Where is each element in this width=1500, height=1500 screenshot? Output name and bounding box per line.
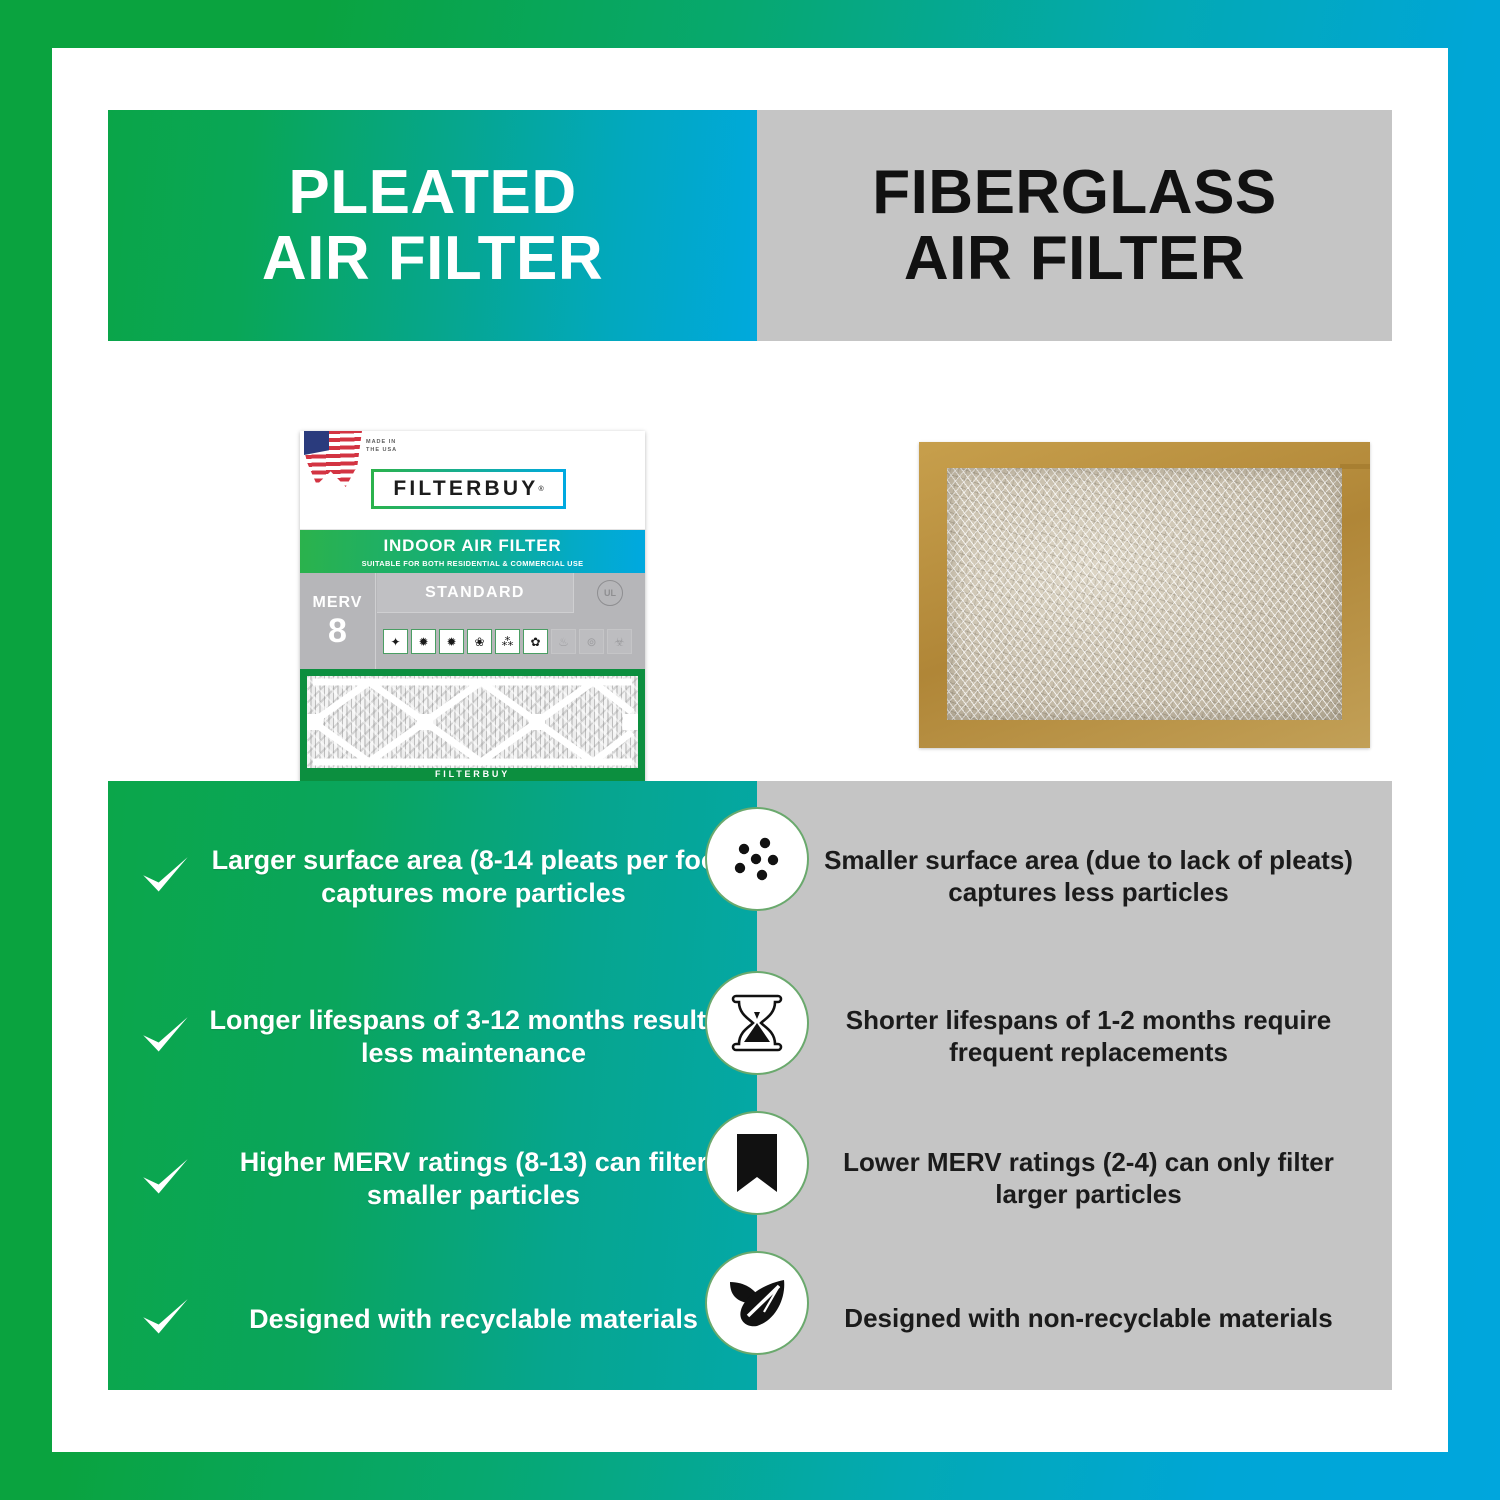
mold-icon: ✹ xyxy=(439,629,464,654)
smoke-icon: ♨ xyxy=(551,629,576,654)
pet-dander-icon: ✿ xyxy=(523,629,548,654)
header-fiberglass-title: FIBERGLASS AIR FILTER xyxy=(872,160,1277,291)
row2-fiberglass-cell: Shorter lifespans of 1-2 months require … xyxy=(757,1005,1392,1068)
pleated-filter-box-image: MADE IN THE USA FILTERBUY® INDOOR AIR FI… xyxy=(300,431,645,786)
pleated-media-face: FILTERBUY xyxy=(300,669,645,786)
pleat-texture xyxy=(307,676,638,768)
row1-pleated-cell: Larger surface area (8-14 pleats per foo… xyxy=(108,844,757,910)
row2-pleated-text: Longer lifespans of 3-12 months result i… xyxy=(206,1004,741,1070)
table-row: Designed with recyclable materials Desig… xyxy=(108,1249,1392,1389)
row3-pleated-cell: Higher MERV ratings (8-13) can filter sm… xyxy=(108,1146,757,1212)
checkmark-icon xyxy=(136,1290,194,1348)
filterbuy-logo: FILTERBUY® xyxy=(371,469,566,509)
box-spec-section: MERV 8 STANDARD UL ✦ ✹ ✹ ❀ ⁂ ✿ ♨ xyxy=(300,573,645,669)
table-row: Larger surface area (8-14 pleats per foo… xyxy=(108,789,1392,964)
box-product-band: INDOOR AIR FILTER SUITABLE FOR BOTH RESI… xyxy=(300,530,645,573)
particles-icon xyxy=(705,807,809,911)
leaf-glyph xyxy=(724,1274,790,1332)
fiberglass-filter-image xyxy=(919,442,1370,748)
wire-support-pattern xyxy=(307,676,638,768)
filterbuy-logo-text: FILTERBUY xyxy=(393,477,538,501)
row1-fiberglass-cell: Smaller surface area (due to lack of ple… xyxy=(757,845,1392,908)
lint-icon: ⁂ xyxy=(495,629,520,654)
merv-label: MERV xyxy=(313,594,363,612)
row4-fiberglass-cell: Designed with non-recyclable materials xyxy=(757,1303,1392,1335)
made-in-usa-label: MADE IN THE USA xyxy=(366,438,397,455)
dust-pollen-icon: ✹ xyxy=(411,629,436,654)
header-pleated: PLEATED AIR FILTER xyxy=(108,110,757,341)
merv-rating-cell: MERV 8 xyxy=(300,573,376,669)
row3-fiberglass-cell: Lower MERV ratings (2-4) can only filter… xyxy=(757,1147,1392,1210)
bookmark-icon xyxy=(705,1111,809,1215)
white-canvas: PLEATED AIR FILTER FIBERGLASS AIR FILTER xyxy=(52,48,1448,1452)
infographic-page: PLEATED AIR FILTER FIBERGLASS AIR FILTER xyxy=(0,0,1500,1500)
row2-pleated-cell: Longer lifespans of 3-12 months result i… xyxy=(108,1004,757,1070)
made-in-usa-line1: MADE IN xyxy=(366,438,397,446)
cardboard-tab xyxy=(1340,464,1370,469)
box-band-subtitle: SUITABLE FOR BOTH RESIDENTIAL & COMMERCI… xyxy=(362,559,584,568)
row4-pleated-cell: Designed with recyclable materials xyxy=(108,1290,757,1348)
row1-fiberglass-text: Smaller surface area (due to lack of ple… xyxy=(817,845,1360,908)
header-band: PLEATED AIR FILTER FIBERGLASS AIR FILTER xyxy=(108,110,1392,341)
fungi-icon: ❀ xyxy=(467,629,492,654)
product-images-zone: MADE IN THE USA FILTERBUY® INDOOR AIR FI… xyxy=(108,341,1392,781)
particles-glyph xyxy=(723,825,791,893)
ul-certification: UL xyxy=(575,573,645,613)
capability-icon-strip: ✦ ✹ ✹ ❀ ⁂ ✿ ♨ ⊚ ☣ xyxy=(377,614,645,669)
row3-pleated-text: Higher MERV ratings (8-13) can filter sm… xyxy=(206,1146,741,1212)
fiberglass-media xyxy=(947,468,1342,720)
row4-fiberglass-text: Designed with non-recyclable materials xyxy=(844,1303,1332,1335)
hourglass-icon xyxy=(705,971,809,1075)
box-header-section: MADE IN THE USA FILTERBUY® xyxy=(300,431,645,530)
virus-icon: ☣ xyxy=(607,629,632,654)
row3-fiberglass-text: Lower MERV ratings (2-4) can only filter… xyxy=(817,1147,1360,1210)
checkmark-icon xyxy=(136,1008,194,1066)
header-pleated-line2: AIR FILTER xyxy=(262,226,603,292)
table-row: Higher MERV ratings (8-13) can filter sm… xyxy=(108,1109,1392,1249)
made-in-usa-line2: THE USA xyxy=(366,446,397,454)
row1-pleated-text: Larger surface area (8-14 pleats per foo… xyxy=(206,844,741,910)
leaf-icon xyxy=(705,1251,809,1355)
header-fiberglass: FIBERGLASS AIR FILTER xyxy=(757,110,1392,341)
dust-mites-icon: ✦ xyxy=(383,629,408,654)
table-row: Longer lifespans of 3-12 months result i… xyxy=(108,964,1392,1109)
checkmark-icon xyxy=(136,848,194,906)
bacteria-icon: ⊚ xyxy=(579,629,604,654)
header-pleated-title: PLEATED AIR FILTER xyxy=(262,160,603,291)
header-fiberglass-line1: FIBERGLASS xyxy=(872,160,1277,226)
bookmark-glyph xyxy=(733,1132,781,1194)
header-fiberglass-line2: AIR FILTER xyxy=(872,226,1277,292)
registered-mark: ® xyxy=(538,486,543,493)
hourglass-glyph xyxy=(728,992,786,1054)
ul-mark-icon: UL xyxy=(597,580,623,606)
merv-value: 8 xyxy=(328,614,347,648)
comparison-rows: Larger surface area (8-14 pleats per foo… xyxy=(108,781,1392,1390)
header-pleated-line1: PLEATED xyxy=(262,160,603,226)
grade-label: STANDARD xyxy=(377,573,574,613)
row2-fiberglass-text: Shorter lifespans of 1-2 months require … xyxy=(817,1005,1360,1068)
box-band-title: INDOOR AIR FILTER xyxy=(384,536,562,556)
comparison-table: Larger surface area (8-14 pleats per foo… xyxy=(108,781,1392,1390)
checkmark-icon xyxy=(136,1150,194,1208)
row4-pleated-text: Designed with recyclable materials xyxy=(206,1303,741,1336)
